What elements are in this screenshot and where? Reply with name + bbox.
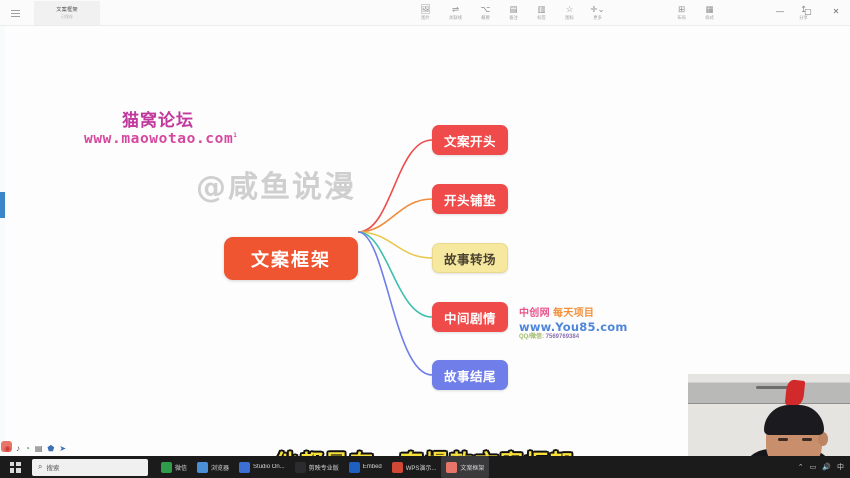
taskbar-app-mindmap[interactable]: 文案框架 (441, 456, 489, 478)
taskbar-app-label-browser: 浏览器 (211, 463, 229, 472)
toolbar-button-layout[interactable]: ⊞ 布局 (668, 0, 695, 25)
toolbar-center: 🖼 图片 ⇌ 关联线 ⌥ 概要 ▤ 备注 ▥ 标签 ☆ 图标 (412, 0, 611, 25)
taskbar-app-label-wechat: 微信 (175, 463, 187, 472)
folder-icon[interactable]: ▤ (35, 444, 43, 453)
taskbar-search-input[interactable]: ⌕ 搜索 (32, 459, 148, 476)
shield-icon[interactable]: ⬟ (47, 444, 54, 453)
watermark-maowo-url-text: www.maowotao.com (84, 131, 233, 147)
desktop-tray-icons: ◉ ♪ ◔ ▤ ⬟ ➤ (0, 440, 150, 456)
taskbar-app-browser[interactable]: 浏览器 (192, 456, 234, 478)
toolbar-button-link[interactable]: ⇌ 关联线 (440, 0, 471, 25)
taskbar-app-wechat[interactable]: 微信 (156, 456, 192, 478)
taskbar-search-placeholder: 搜索 (46, 462, 59, 472)
mindmap-canvas[interactable]: 猫窝论坛 www.maowotao.com1 @咸鱼说漫 文案框架 文案开头 开… (0, 26, 850, 456)
taskbar-app-label-wps: WPS演示... (406, 463, 437, 472)
layout-icon: ⊞ (678, 4, 685, 14)
search-icon: ⌕ (38, 462, 42, 472)
taskbar-app-label-jianying: 剪映专业版 (309, 463, 339, 472)
browser-icon (197, 462, 208, 473)
taskbar-app-label-studio: Studio On... (253, 464, 285, 470)
minimize-icon[interactable]: — (766, 0, 794, 22)
document-tab-title: 文案框架 (56, 7, 78, 14)
mindmap-node-gushi-zhuanchang[interactable]: 故事转场 (432, 243, 508, 273)
wps-icon (392, 462, 403, 473)
toolbar-button-more[interactable]: ✛⌄ 更多 (584, 0, 611, 25)
webcam-person-eye-right (802, 438, 812, 441)
webcam-overlay[interactable] (688, 374, 850, 456)
taskbar-app-label-mindmap: 文案框架 (460, 463, 484, 472)
taskbar-app-label-embed: Embed (363, 464, 382, 470)
close-icon[interactable]: ✕ (822, 0, 850, 22)
watermark-you85-line1: 中创网 每天项目 (519, 309, 629, 320)
app-titlebar: 文案框架 已保存 🖼 图片 ⇌ 关联线 ⌥ 概要 ▤ 备注 ▥ 标签 (0, 0, 850, 26)
mindmap-node-kaitou-pudian[interactable]: 开头铺垫 (432, 184, 508, 214)
window-controls: — ▢ ✕ (766, 0, 850, 22)
star-icon: ☆ (566, 4, 574, 14)
watermark-maowo-title: 猫窝论坛 (122, 106, 194, 131)
mindmap-node-wenan-kaitou[interactable]: 文案开头 (432, 125, 508, 155)
toolbar-button-image[interactable]: 🖼 图片 (412, 0, 439, 25)
toolbar-label-image: 图片 (421, 15, 430, 21)
toolbar-label-icon: 图标 (565, 15, 574, 21)
link-icon: ⇌ (452, 4, 459, 14)
toolbar-label-layout: 布局 (677, 15, 686, 21)
toolbar-label-summary: 概要 (481, 15, 490, 21)
document-tab[interactable]: 文案框架 已保存 (34, 1, 100, 25)
toolbar-label-more: 更多 (593, 15, 602, 21)
tag-icon: ▥ (537, 4, 545, 14)
watermark-xianyu: @咸鱼说漫 (196, 162, 356, 206)
chat-icon[interactable]: ◔ (25, 444, 30, 453)
chevron-up-icon[interactable]: ⌃ (798, 463, 804, 471)
mindmap-node-zhongjian-juqing[interactable]: 中间剧情 (432, 302, 508, 332)
mindmap-node-gushi-jiewei[interactable]: 故事结尾 (432, 360, 508, 390)
toolbar-label-link: 关联线 (449, 15, 462, 21)
wechat-icon (161, 462, 172, 473)
toolbar-button-theme[interactable]: ▦ 样式 (696, 0, 723, 25)
watermark-you85: 中创网 每天项目 www.You85.com QQ/微信: 7569769384 (519, 309, 629, 340)
mindmap-root-node[interactable]: 文案框架 (224, 237, 358, 280)
network-icon[interactable]: ▭ (810, 463, 817, 471)
maximize-icon[interactable]: ▢ (794, 0, 822, 22)
watermark-you85-line2: www.You85.com (519, 321, 629, 333)
ime-icon[interactable]: 中 (837, 462, 844, 472)
app-red-icon[interactable]: ◉ (4, 444, 11, 453)
document-tab-subtitle: 已保存 (61, 14, 73, 20)
watermark-you85-line1-b: 每天项目 (553, 308, 594, 319)
left-rail-highlight (0, 192, 5, 218)
taskbar-apps: 微信 浏览器 Studio On... 剪映专业版 Embed WPS演示... (156, 456, 489, 478)
webcam-person-eye-left (778, 438, 788, 441)
windows-start-icon[interactable] (0, 456, 30, 478)
mindmap-app-icon (446, 462, 457, 473)
summary-icon: ⌥ (481, 4, 491, 14)
toolbar-button-summary[interactable]: ⌥ 概要 (472, 0, 499, 25)
studio-icon (239, 462, 250, 473)
volume-icon[interactable]: 🔊 (822, 463, 831, 471)
toolbar-button-note[interactable]: ▤ 备注 (500, 0, 527, 25)
hamburger-icon[interactable] (4, 0, 26, 26)
left-rail (0, 26, 5, 456)
note-icon: ▤ (509, 4, 517, 14)
toolbar-button-tag[interactable]: ▥ 标签 (528, 0, 555, 25)
windows-taskbar: ⌕ 搜索 微信 浏览器 Studio On... 剪映专业版 Embe (0, 456, 850, 478)
toolbar-button-icon[interactable]: ☆ 图标 (556, 0, 583, 25)
taskbar-system-tray: ⌃ ▭ 🔊 中 (798, 456, 850, 478)
toolbar-label-tag: 标签 (537, 15, 546, 21)
watermark-you85-line3-b: 7569769384 (546, 334, 579, 340)
screen-root: 文案框架 已保存 🖼 图片 ⇌ 关联线 ⌥ 概要 ▤ 备注 ▥ 标签 (0, 0, 850, 478)
watermark-you85-line1-a: 中创网 (519, 308, 550, 319)
taskbar-app-studio[interactable]: Studio On... (234, 456, 290, 478)
taskbar-app-embed[interactable]: Embed (344, 456, 387, 478)
theme-icon: ▦ (705, 4, 713, 14)
music-icon[interactable]: ♪ (16, 444, 20, 453)
more-icon: ✛⌄ (590, 4, 604, 14)
taskbar-app-jianying[interactable]: 剪映专业版 (290, 456, 344, 478)
watermark-you85-line3: QQ/微信: 7569769384 (519, 334, 629, 340)
embed-icon (349, 462, 360, 473)
watermark-maowo-url: www.maowotao.com1 (84, 131, 238, 147)
jianying-icon (295, 462, 306, 473)
taskbar-app-wps[interactable]: WPS演示... (387, 456, 442, 478)
arrow-icon[interactable]: ➤ (59, 444, 66, 453)
image-icon: 🖼 (420, 4, 431, 14)
watermark-you85-line3-a: QQ/微信: (519, 334, 544, 340)
toolbar-label-note: 备注 (509, 15, 518, 21)
toolbar-label-theme: 样式 (705, 15, 714, 21)
windows-logo-icon (10, 462, 21, 473)
